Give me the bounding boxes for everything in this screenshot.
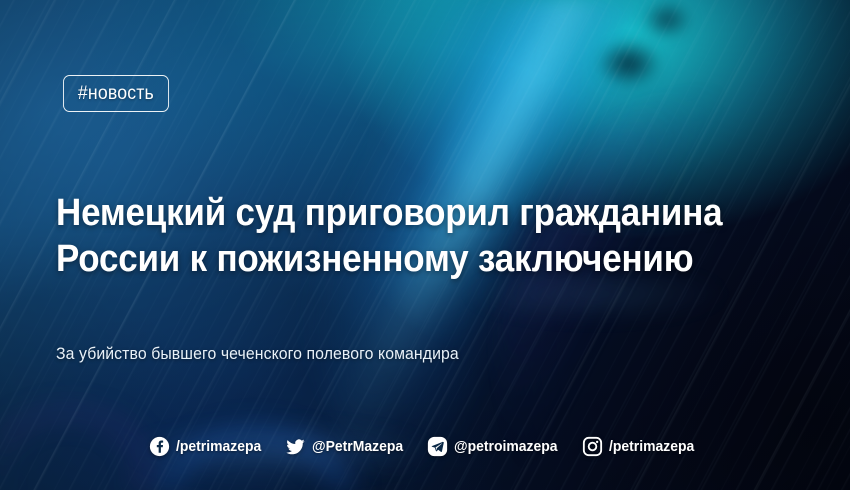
tag-badge-label: #новость [78,83,154,105]
tag-badge[interactable]: #новость [63,75,169,112]
telegram-icon [427,436,448,457]
social-link-instagram[interactable]: /petrimazepa [582,436,701,457]
social-links-bar: /petrimazepa @PetrMazepa @petroimazepa [0,436,850,457]
social-handle-twitter: @PetrMazepa [312,438,403,455]
news-card: #новость Немецкий суд приговорил граждан… [0,0,850,490]
social-handle-telegram: @petroimazepa [454,438,558,455]
page-subtitle: За убийство бывшего чеченского полевого … [56,344,459,364]
social-link-twitter[interactable]: @PetrMazepa [285,436,410,457]
social-link-telegram[interactable]: @petroimazepa [427,436,565,457]
social-link-facebook[interactable]: /petrimazepa [149,436,268,457]
social-handle-facebook: /petrimazepa [176,438,261,455]
social-handle-instagram: /petrimazepa [609,438,694,455]
facebook-icon [149,436,170,457]
instagram-icon [582,436,603,457]
twitter-icon [285,436,306,457]
page-title: Немецкий суд приговорил гражданина Росси… [56,190,737,282]
